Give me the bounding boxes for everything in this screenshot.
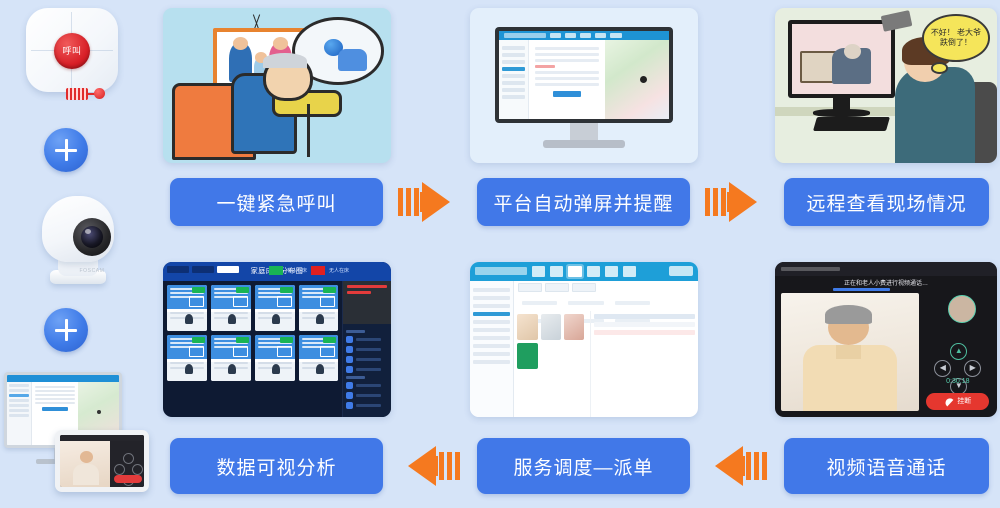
menu-item[interactable] bbox=[346, 336, 388, 343]
form-field bbox=[535, 77, 599, 80]
bed-card[interactable] bbox=[255, 285, 295, 331]
bulb-icon bbox=[228, 364, 236, 374]
dpad-up-icon bbox=[123, 453, 134, 464]
bulb-icon bbox=[316, 314, 324, 324]
bed-card[interactable] bbox=[211, 285, 251, 331]
mini-dashboard-sidebar bbox=[7, 382, 32, 445]
filter-field[interactable] bbox=[615, 301, 650, 305]
sidebar-row[interactable] bbox=[473, 344, 510, 348]
operator-monitor bbox=[788, 20, 895, 98]
cord-coil bbox=[66, 88, 88, 100]
bed-card[interactable] bbox=[299, 285, 339, 331]
alarm-line bbox=[347, 291, 371, 294]
bulb-icon bbox=[185, 364, 193, 374]
menu-label bbox=[356, 338, 381, 341]
dashboard-legend: 有人在床 无人在床 bbox=[269, 266, 349, 275]
dispatch-menu-item[interactable] bbox=[605, 266, 618, 277]
bulb-icon bbox=[272, 314, 280, 324]
tablet-call-controls bbox=[110, 441, 144, 487]
mini-nav-row bbox=[9, 414, 29, 417]
dispatch-menu-item[interactable] bbox=[532, 266, 545, 277]
service-thumbnail[interactable] bbox=[517, 343, 537, 369]
plus-icon bbox=[44, 308, 88, 352]
operator-speech-bubble: 不好！ 老大爷跌倒了！ bbox=[922, 14, 991, 62]
plus-icon bbox=[44, 128, 88, 172]
tablet-call-body bbox=[60, 441, 144, 487]
elder-collar bbox=[836, 345, 861, 359]
table-row-highlighted[interactable] bbox=[594, 330, 695, 335]
arrow-head bbox=[715, 446, 743, 486]
legend-swatch-occupied bbox=[269, 266, 283, 275]
tablet-screen bbox=[60, 435, 144, 487]
dispatch-sidebar bbox=[470, 281, 514, 417]
platform-header bbox=[499, 31, 669, 41]
bed-card[interactable] bbox=[255, 335, 295, 381]
flow-arrow-left bbox=[705, 446, 767, 486]
platform-menu-item bbox=[610, 33, 621, 38]
bed-card-grid bbox=[163, 281, 342, 417]
sidebar-row bbox=[502, 60, 525, 64]
bed-card[interactable] bbox=[167, 285, 207, 331]
elderly-man-hair bbox=[263, 53, 306, 69]
tablet-call-torso bbox=[73, 464, 99, 485]
bed-status-tag bbox=[192, 337, 205, 343]
platform-menu-item bbox=[595, 33, 606, 38]
dashboard-filters bbox=[167, 266, 239, 273]
menu-group-title bbox=[346, 330, 364, 333]
bed-icon bbox=[277, 346, 292, 357]
camera-brand-label: FOSCAM bbox=[67, 268, 117, 274]
video-call-titlebar bbox=[775, 262, 997, 276]
camera-lens-glint bbox=[85, 229, 91, 234]
sidebar-row[interactable] bbox=[473, 304, 510, 308]
dispatch-main bbox=[514, 281, 698, 417]
mini-nav-row bbox=[9, 389, 29, 392]
platform-sidebar bbox=[499, 40, 529, 118]
mini-nav-row bbox=[9, 384, 29, 387]
platform-alert-form bbox=[529, 40, 605, 118]
menu-label bbox=[356, 404, 381, 407]
tablet-frame bbox=[55, 430, 149, 492]
menu-icon bbox=[346, 346, 353, 353]
sos-call-button[interactable]: 呼叫 bbox=[54, 33, 90, 69]
workstation-monitor-tablet[interactable] bbox=[2, 366, 152, 502]
mini-form-line bbox=[35, 402, 76, 404]
cord-handle bbox=[94, 88, 105, 99]
bed-card-top bbox=[211, 285, 251, 309]
bed-card-top bbox=[299, 335, 339, 359]
panel-elderly-pressing-sos bbox=[163, 8, 391, 163]
platform-menu-item bbox=[550, 33, 561, 38]
phone-hangup-icon bbox=[944, 396, 954, 406]
arrow-tail-bars bbox=[746, 452, 767, 480]
dispatch-menu-item[interactable] bbox=[623, 266, 636, 277]
filter-field[interactable] bbox=[568, 301, 603, 305]
bulb-icon bbox=[316, 364, 324, 374]
bed-icon bbox=[277, 296, 292, 307]
infographic-canvas: 呼叫 FOSCAM bbox=[0, 0, 1000, 508]
sidebar-row[interactable] bbox=[473, 352, 510, 356]
bed-card-top bbox=[211, 335, 251, 359]
menu-item[interactable] bbox=[346, 356, 388, 363]
user-avatar[interactable] bbox=[669, 266, 693, 276]
call-timer: 0:30:18 bbox=[919, 378, 997, 385]
bed-status-tag bbox=[323, 337, 336, 343]
menu-icon bbox=[346, 336, 353, 343]
bed-card-bottom bbox=[299, 362, 339, 381]
emergency-call-button-device[interactable]: 呼叫 bbox=[26, 8, 124, 98]
bed-card-top bbox=[255, 285, 295, 309]
video-call-caption: 正在和老人小费进行视频通话… bbox=[775, 278, 997, 287]
flow-label-step4[interactable]: 视频语音通话 bbox=[784, 438, 989, 494]
map-pin-icon bbox=[640, 76, 647, 83]
sidebar-row bbox=[502, 74, 525, 78]
sidebar-row[interactable] bbox=[473, 296, 510, 300]
mini-nav-row bbox=[9, 404, 29, 407]
arrow-head bbox=[729, 182, 757, 222]
menu-item[interactable] bbox=[346, 402, 388, 409]
bed-icon bbox=[233, 296, 248, 307]
dpad-left-icon bbox=[114, 464, 125, 475]
pan-right-button[interactable]: ▶ bbox=[964, 360, 981, 377]
dispatch-menu-item-selected[interactable] bbox=[568, 266, 581, 277]
arrow-tail-bars bbox=[439, 452, 460, 480]
device-column: 呼叫 FOSCAM bbox=[0, 0, 160, 508]
menu-item[interactable] bbox=[346, 392, 388, 399]
service-item-thumbnails bbox=[514, 311, 591, 417]
dashboard-menu bbox=[343, 324, 391, 417]
tablet-call-head bbox=[80, 451, 93, 463]
dispatch-order-table bbox=[591, 311, 698, 417]
bed-icon bbox=[320, 346, 335, 357]
monitor-neck bbox=[833, 95, 851, 111]
legend-swatch-empty bbox=[311, 266, 325, 275]
mini-form-submit bbox=[42, 407, 68, 411]
sidebar-row bbox=[502, 46, 525, 50]
panel-video-call: 正在和老人小费进行视频通话… ▲ ◀ ▶ ▼ 0:30:18 bbox=[775, 262, 997, 417]
dashboard-body bbox=[163, 281, 391, 417]
service-thumbnail[interactable] bbox=[517, 314, 537, 340]
service-thumbnail[interactable] bbox=[541, 314, 561, 340]
pan-left-button[interactable]: ◀ bbox=[934, 360, 951, 377]
bed-card[interactable] bbox=[211, 335, 251, 381]
tab[interactable] bbox=[572, 283, 596, 292]
bulb-icon bbox=[185, 314, 193, 324]
hangup-label: 挂断 bbox=[957, 396, 971, 406]
surveillance-camera-icon bbox=[880, 10, 911, 31]
bed-icon bbox=[233, 346, 248, 357]
sidebar-row-selected bbox=[502, 67, 525, 71]
sidebar-row-selected[interactable] bbox=[473, 312, 510, 316]
sidebar-row bbox=[502, 88, 525, 92]
bed-card-bottom bbox=[211, 362, 251, 381]
bed-status-tag bbox=[192, 287, 205, 293]
dispatch-logo bbox=[475, 267, 527, 275]
menu-label bbox=[356, 358, 381, 361]
bed-icon bbox=[189, 296, 204, 307]
form-field bbox=[535, 71, 599, 74]
form-field bbox=[535, 59, 599, 62]
platform-logo bbox=[504, 33, 546, 37]
bed-card-top bbox=[167, 335, 207, 359]
bed-card-top bbox=[167, 285, 207, 309]
bed-card-bottom bbox=[255, 362, 295, 381]
filter-select bbox=[192, 266, 214, 273]
dispatch-menu-item[interactable] bbox=[587, 266, 600, 277]
pan-up-button[interactable]: ▲ bbox=[950, 343, 967, 360]
monitor-stand bbox=[543, 140, 625, 148]
sidebar-row bbox=[502, 95, 525, 99]
bed-icon bbox=[320, 296, 335, 307]
form-field bbox=[535, 83, 599, 86]
sidebar-row bbox=[502, 53, 525, 57]
arrow-tail-bars bbox=[398, 188, 419, 216]
legend-label-occupied: 有人在床 bbox=[287, 267, 307, 274]
bed-status-tag bbox=[280, 337, 293, 343]
flow-label-step1[interactable]: 一键紧急呼叫 bbox=[170, 178, 383, 226]
menu-group-title bbox=[346, 376, 364, 379]
menu-item[interactable] bbox=[346, 346, 388, 353]
mini-nav-row-selected bbox=[9, 394, 29, 397]
flow-label-step2[interactable]: 平台自动弹屏并提醒 bbox=[477, 178, 690, 226]
bed-card-bottom bbox=[211, 312, 251, 331]
table-row[interactable] bbox=[594, 322, 695, 327]
bed-card-bottom bbox=[299, 312, 339, 331]
menu-label bbox=[356, 394, 381, 397]
dashboard-header: 家庭床位分布图 有人在床 无人在床 bbox=[163, 262, 391, 281]
mini-form-line bbox=[35, 394, 76, 396]
mini-form-line bbox=[35, 386, 76, 388]
platform-menu-item bbox=[580, 33, 591, 38]
sidebar-row[interactable] bbox=[473, 336, 510, 340]
alarm-line bbox=[347, 285, 387, 288]
walking-cane bbox=[307, 104, 310, 157]
form-field bbox=[535, 53, 599, 56]
video-call-body: ▲ ◀ ▶ ▼ 0:30:18 挂断 bbox=[775, 293, 997, 417]
panel-platform-popup bbox=[470, 8, 698, 163]
bulb-icon bbox=[272, 364, 280, 374]
operator-body bbox=[895, 67, 975, 163]
flow-label-step6[interactable]: 数据可视分析 bbox=[170, 438, 383, 494]
bed-card-bottom bbox=[167, 362, 207, 381]
pressing-hand-icon bbox=[338, 49, 367, 71]
bed-status-tag bbox=[236, 337, 249, 343]
video-call-underline bbox=[833, 288, 891, 291]
form-submit-button bbox=[553, 91, 580, 97]
menu-icon bbox=[346, 402, 353, 409]
elder-hair bbox=[825, 305, 872, 324]
tab[interactable] bbox=[518, 283, 542, 292]
dpad-right-icon bbox=[132, 464, 143, 475]
panel-service-dispatch bbox=[470, 262, 698, 417]
video-call-app-title bbox=[781, 267, 840, 272]
dispatch-content bbox=[514, 311, 698, 417]
tab[interactable] bbox=[545, 283, 569, 292]
menu-label bbox=[356, 384, 381, 387]
flow-arrow-right bbox=[705, 182, 767, 222]
bulb-icon bbox=[228, 314, 236, 324]
mini-form-line bbox=[35, 398, 76, 400]
sos-panel-body: 呼叫 bbox=[26, 8, 118, 92]
keyboard bbox=[813, 117, 890, 131]
platform-map bbox=[605, 40, 669, 118]
menu-label bbox=[356, 368, 381, 371]
form-field bbox=[535, 47, 599, 50]
service-thumbnail[interactable] bbox=[564, 314, 584, 340]
platform-main bbox=[499, 40, 669, 118]
form-alert-text bbox=[535, 65, 556, 68]
mini-form-line bbox=[35, 390, 76, 392]
phone-icon bbox=[346, 366, 353, 373]
menu-icon bbox=[346, 356, 353, 363]
bed-card-bottom bbox=[255, 312, 295, 331]
bed-card[interactable] bbox=[299, 335, 339, 381]
monitor-neck bbox=[570, 123, 597, 140]
dispatch-menu-item[interactable] bbox=[550, 266, 563, 277]
hangup-button[interactable]: 挂断 bbox=[926, 393, 989, 410]
platform-menu-item bbox=[565, 33, 576, 38]
camera-head: FOSCAM bbox=[42, 196, 114, 262]
menu-icon bbox=[346, 392, 353, 399]
bed-card[interactable] bbox=[167, 335, 207, 381]
dashboard-right-panel bbox=[342, 281, 391, 417]
sidebar-row[interactable] bbox=[473, 360, 510, 364]
bed-card-top bbox=[299, 285, 339, 309]
desktop-monitor bbox=[495, 27, 673, 123]
menu-icon bbox=[346, 382, 353, 389]
legend-label-empty: 无人在床 bbox=[329, 267, 349, 274]
bed-card-bottom bbox=[167, 312, 207, 331]
flow-label-step3[interactable]: 远程查看现场情况 bbox=[784, 178, 989, 226]
tablet-call-video bbox=[60, 441, 110, 487]
arrow-head bbox=[408, 446, 436, 486]
ip-camera-device[interactable]: FOSCAM bbox=[28, 186, 126, 290]
dispatch-header bbox=[470, 262, 698, 281]
dispatch-body bbox=[470, 281, 698, 417]
bed-status-tag bbox=[236, 287, 249, 293]
arrow-tail-bars bbox=[705, 188, 726, 216]
bed-status-tag bbox=[280, 287, 293, 293]
bed-icon bbox=[189, 346, 204, 357]
mini-dashboard-header bbox=[7, 375, 119, 382]
bed-status-tag bbox=[323, 287, 336, 293]
hangup-button bbox=[114, 475, 142, 483]
flow-label-step5[interactable]: 服务调度—派单 bbox=[477, 438, 690, 494]
mini-nav-row bbox=[9, 399, 29, 402]
menu-item[interactable] bbox=[346, 382, 388, 389]
photo-father-head bbox=[233, 37, 249, 50]
monitor-stand bbox=[813, 109, 871, 117]
speech-bubble-tail bbox=[931, 62, 948, 74]
photo-mother-head bbox=[273, 37, 289, 50]
table-header-row bbox=[594, 314, 695, 319]
video-feed bbox=[781, 293, 919, 411]
sidebar-row[interactable] bbox=[473, 288, 510, 292]
panel-operator-remote-view: 不好！ 老大爷跌倒了！ bbox=[775, 8, 997, 163]
menu-item[interactable] bbox=[346, 366, 388, 373]
operator-screen bbox=[792, 24, 891, 94]
sidebar-row bbox=[502, 81, 525, 85]
flow-arrow-right bbox=[398, 182, 460, 222]
sidebar-row[interactable] bbox=[473, 320, 510, 324]
panel-bed-map-dashboard: 家庭床位分布图 有人在床 无人在床 bbox=[163, 262, 391, 417]
filter-select bbox=[167, 266, 189, 273]
dispatch-filter-bar bbox=[514, 292, 698, 311]
bed-card-top bbox=[255, 335, 295, 359]
arrow-head bbox=[422, 182, 450, 222]
contact-avatar bbox=[948, 295, 976, 323]
filter-input bbox=[217, 266, 239, 273]
sos-pull-cord[interactable] bbox=[66, 84, 104, 104]
flow-arrow-left bbox=[398, 446, 460, 486]
mini-nav-row bbox=[9, 409, 29, 412]
video-call-controls: ▲ ◀ ▶ ▼ 0:30:18 挂断 bbox=[919, 293, 997, 417]
alarm-feed bbox=[343, 281, 391, 325]
filter-field[interactable] bbox=[522, 301, 557, 305]
sidebar-row[interactable] bbox=[473, 328, 510, 332]
menu-label bbox=[356, 348, 381, 351]
dispatch-tabs bbox=[514, 281, 698, 292]
camera-lens bbox=[81, 226, 103, 248]
platform-screen bbox=[499, 31, 669, 119]
